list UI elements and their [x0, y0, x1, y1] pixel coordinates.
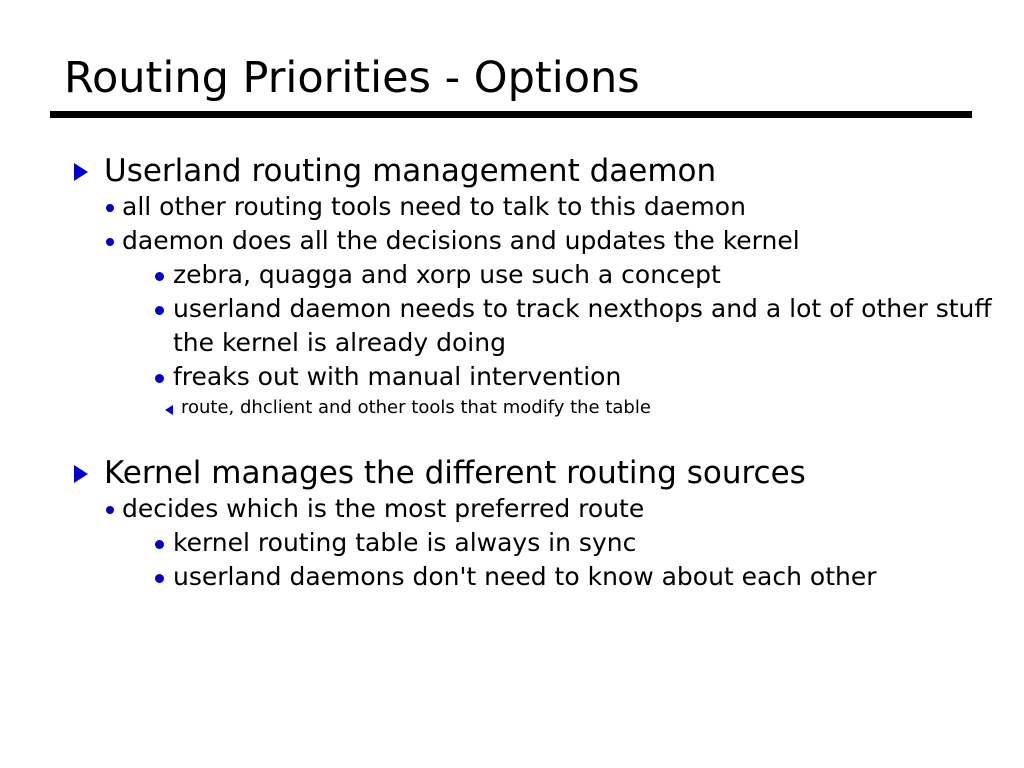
bullet-item-level2: daemon does all the decisions and update…: [0, 224, 1024, 258]
dot-icon: [106, 238, 114, 246]
dot-icon: [155, 574, 164, 583]
triangle-right-icon: [74, 163, 88, 181]
bullet-text: decides which is the most preferred rout…: [122, 492, 1024, 526]
bullet-text: Userland routing management daemon: [104, 152, 1024, 190]
bullet-item-level1: Userland routing management daemon: [0, 152, 1024, 190]
dot-icon: [155, 306, 164, 315]
section-spacer: [0, 422, 1024, 454]
triangle-left-icon: [165, 405, 173, 415]
dot-icon: [106, 506, 114, 514]
bullet-item-level3: freaks out with manual intervention: [0, 360, 1024, 394]
bullet-item-level2: decides which is the most preferred rout…: [0, 492, 1024, 526]
triangle-right-icon: [74, 465, 88, 483]
bullet-text: freaks out with manual intervention: [173, 360, 1024, 394]
bullet-item-level3: userland daemon needs to track nexthops …: [0, 292, 1024, 360]
bullet-text: kernel routing table is always in sync: [173, 526, 1024, 560]
page-title: Routing Priorities - Options: [64, 52, 640, 104]
slide-body: Userland routing management daemon all o…: [0, 152, 1024, 594]
bullet-text: route, dhclient and other tools that mod…: [181, 394, 1024, 422]
dot-icon: [155, 540, 164, 549]
bullet-item-level3: userland daemons don't need to know abou…: [0, 560, 1024, 594]
bullet-text: userland daemon needs to track nexthops …: [173, 292, 1024, 360]
bullet-item-level2: all other routing tools need to talk to …: [0, 190, 1024, 224]
bullet-text: userland daemons don't need to know abou…: [173, 560, 1024, 594]
bullet-text: Kernel manages the different routing sou…: [104, 454, 1024, 492]
bullet-item-level1: Kernel manages the different routing sou…: [0, 454, 1024, 492]
bullet-text: zebra, quagga and xorp use such a concep…: [173, 258, 1024, 292]
dot-icon: [106, 204, 114, 212]
slide: Routing Priorities - Options Userland ro…: [0, 0, 1024, 768]
bullet-item-level3: zebra, quagga and xorp use such a concep…: [0, 258, 1024, 292]
dot-icon: [155, 272, 164, 281]
bullet-item-level4: route, dhclient and other tools that mod…: [0, 394, 1024, 422]
dot-icon: [155, 374, 164, 383]
bullet-item-level3: kernel routing table is always in sync: [0, 526, 1024, 560]
bullet-text: daemon does all the decisions and update…: [122, 224, 1024, 258]
title-underline-rule: [50, 111, 972, 118]
bullet-text: all other routing tools need to talk to …: [122, 190, 1024, 224]
